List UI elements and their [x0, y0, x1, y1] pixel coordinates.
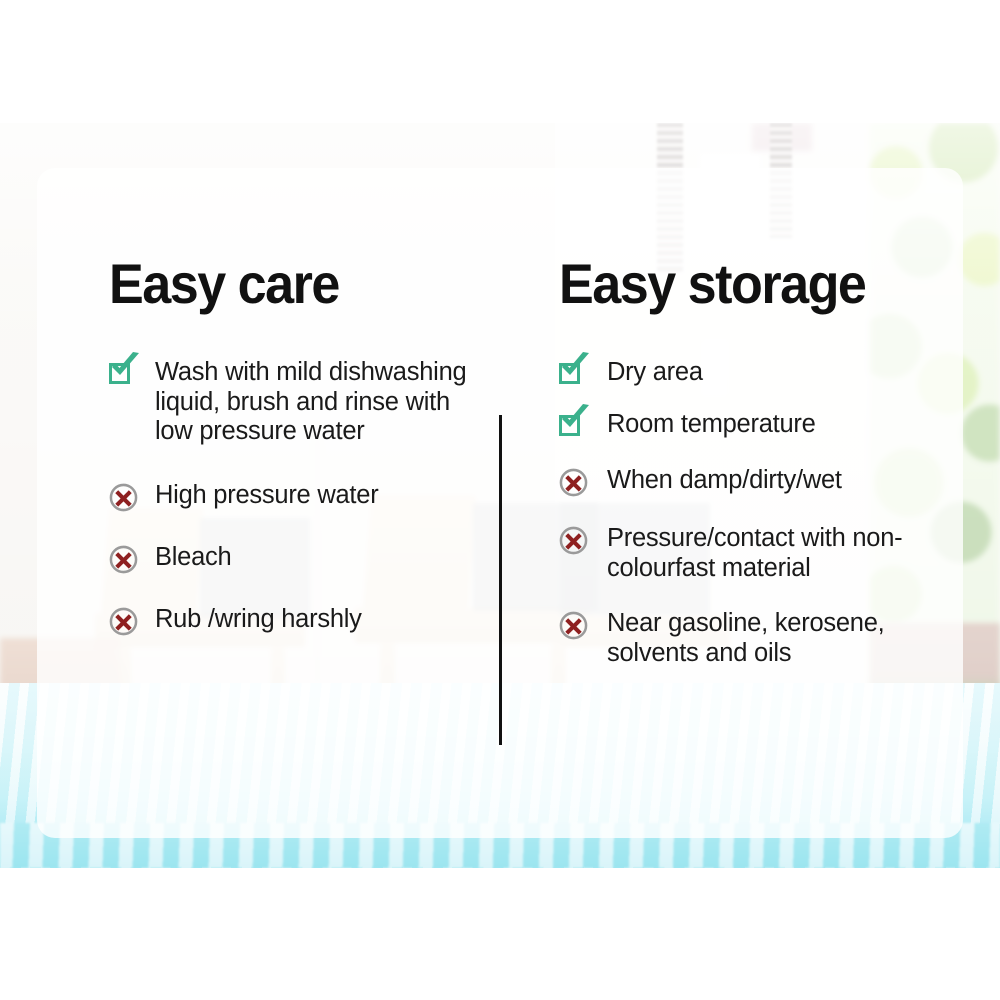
list-item: Dry area — [559, 358, 963, 390]
column-easy-storage: Easy storage Dry area — [499, 168, 963, 838]
list-item-label: Bleach — [155, 543, 231, 573]
cross-icon — [559, 611, 589, 641]
cross-icon — [109, 545, 139, 575]
list-item: Room temperature — [559, 410, 963, 442]
list-item: Near gasoline, kerosene, solvents and oi… — [559, 609, 963, 668]
list-item: Wash with mild dishwashing liquid, brush… — [109, 358, 499, 447]
list-item-label: Wash with mild dishwashing liquid, brush… — [155, 358, 490, 447]
list-item: Rub /wring harshly — [109, 605, 499, 637]
column-easy-care: Easy care Wash with mild dishwashing liq… — [37, 168, 499, 838]
column-divider — [499, 415, 502, 745]
column-title-easy-care: Easy care — [109, 256, 472, 312]
cross-icon — [559, 468, 589, 498]
cross-icon — [109, 607, 139, 637]
info-card: Easy care Wash with mild dishwashing liq… — [37, 168, 963, 838]
list-item: When damp/dirty/wet — [559, 466, 963, 498]
cross-icon — [559, 526, 589, 556]
list-item-label: High pressure water — [155, 481, 378, 511]
cross-icon — [109, 483, 139, 513]
list-item: Bleach — [109, 543, 499, 575]
list-item-label: Dry area — [607, 358, 703, 388]
list-item-label: When damp/dirty/wet — [607, 466, 842, 496]
check-icon — [559, 412, 589, 442]
product-infographic: Easy care Wash with mild dishwashing liq… — [0, 0, 1000, 1000]
list-item-label: Pressure/contact with non-colourfast mat… — [607, 524, 937, 583]
list-item: High pressure water — [109, 481, 499, 513]
list-item-label: Room temperature — [607, 410, 816, 440]
check-icon — [109, 360, 139, 390]
list-item: Pressure/contact with non-colourfast mat… — [559, 524, 963, 583]
column-title-easy-storage: Easy storage — [559, 256, 935, 312]
list-item-label: Near gasoline, kerosene, solvents and oi… — [607, 609, 937, 668]
list-item-label: Rub /wring harshly — [155, 605, 362, 635]
check-icon — [559, 360, 589, 390]
